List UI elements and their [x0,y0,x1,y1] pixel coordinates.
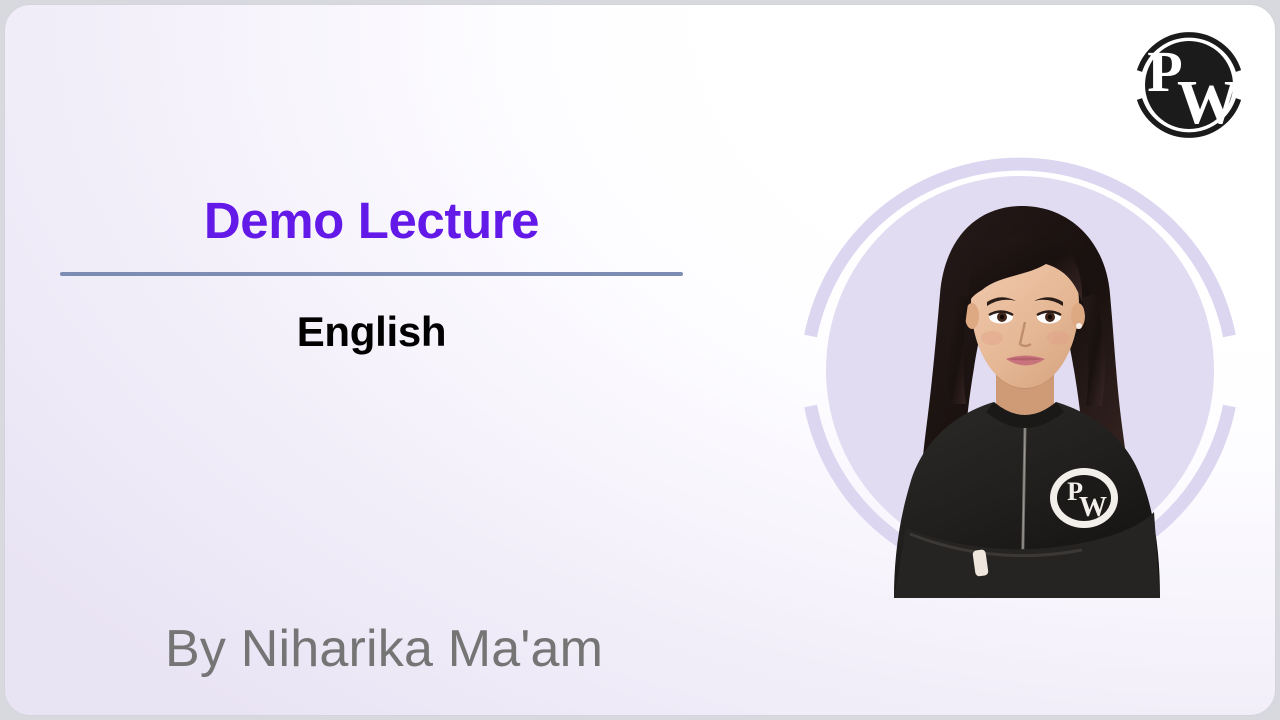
presenter-name: By Niharika Ma'am [165,619,603,679]
lecture-slide-card: P W Demo Lecture English By Niharika Ma'… [4,4,1276,716]
svg-text:W: W [1079,492,1107,523]
pw-logo: P W [1123,19,1255,151]
portrait-composition: P W [800,150,1240,598]
subject-label: English [60,276,683,356]
avatar: P W [870,198,1180,598]
svg-text:W: W [1177,69,1239,137]
title-block: Demo Lecture English [60,191,683,356]
page-title: Demo Lecture [60,191,683,250]
